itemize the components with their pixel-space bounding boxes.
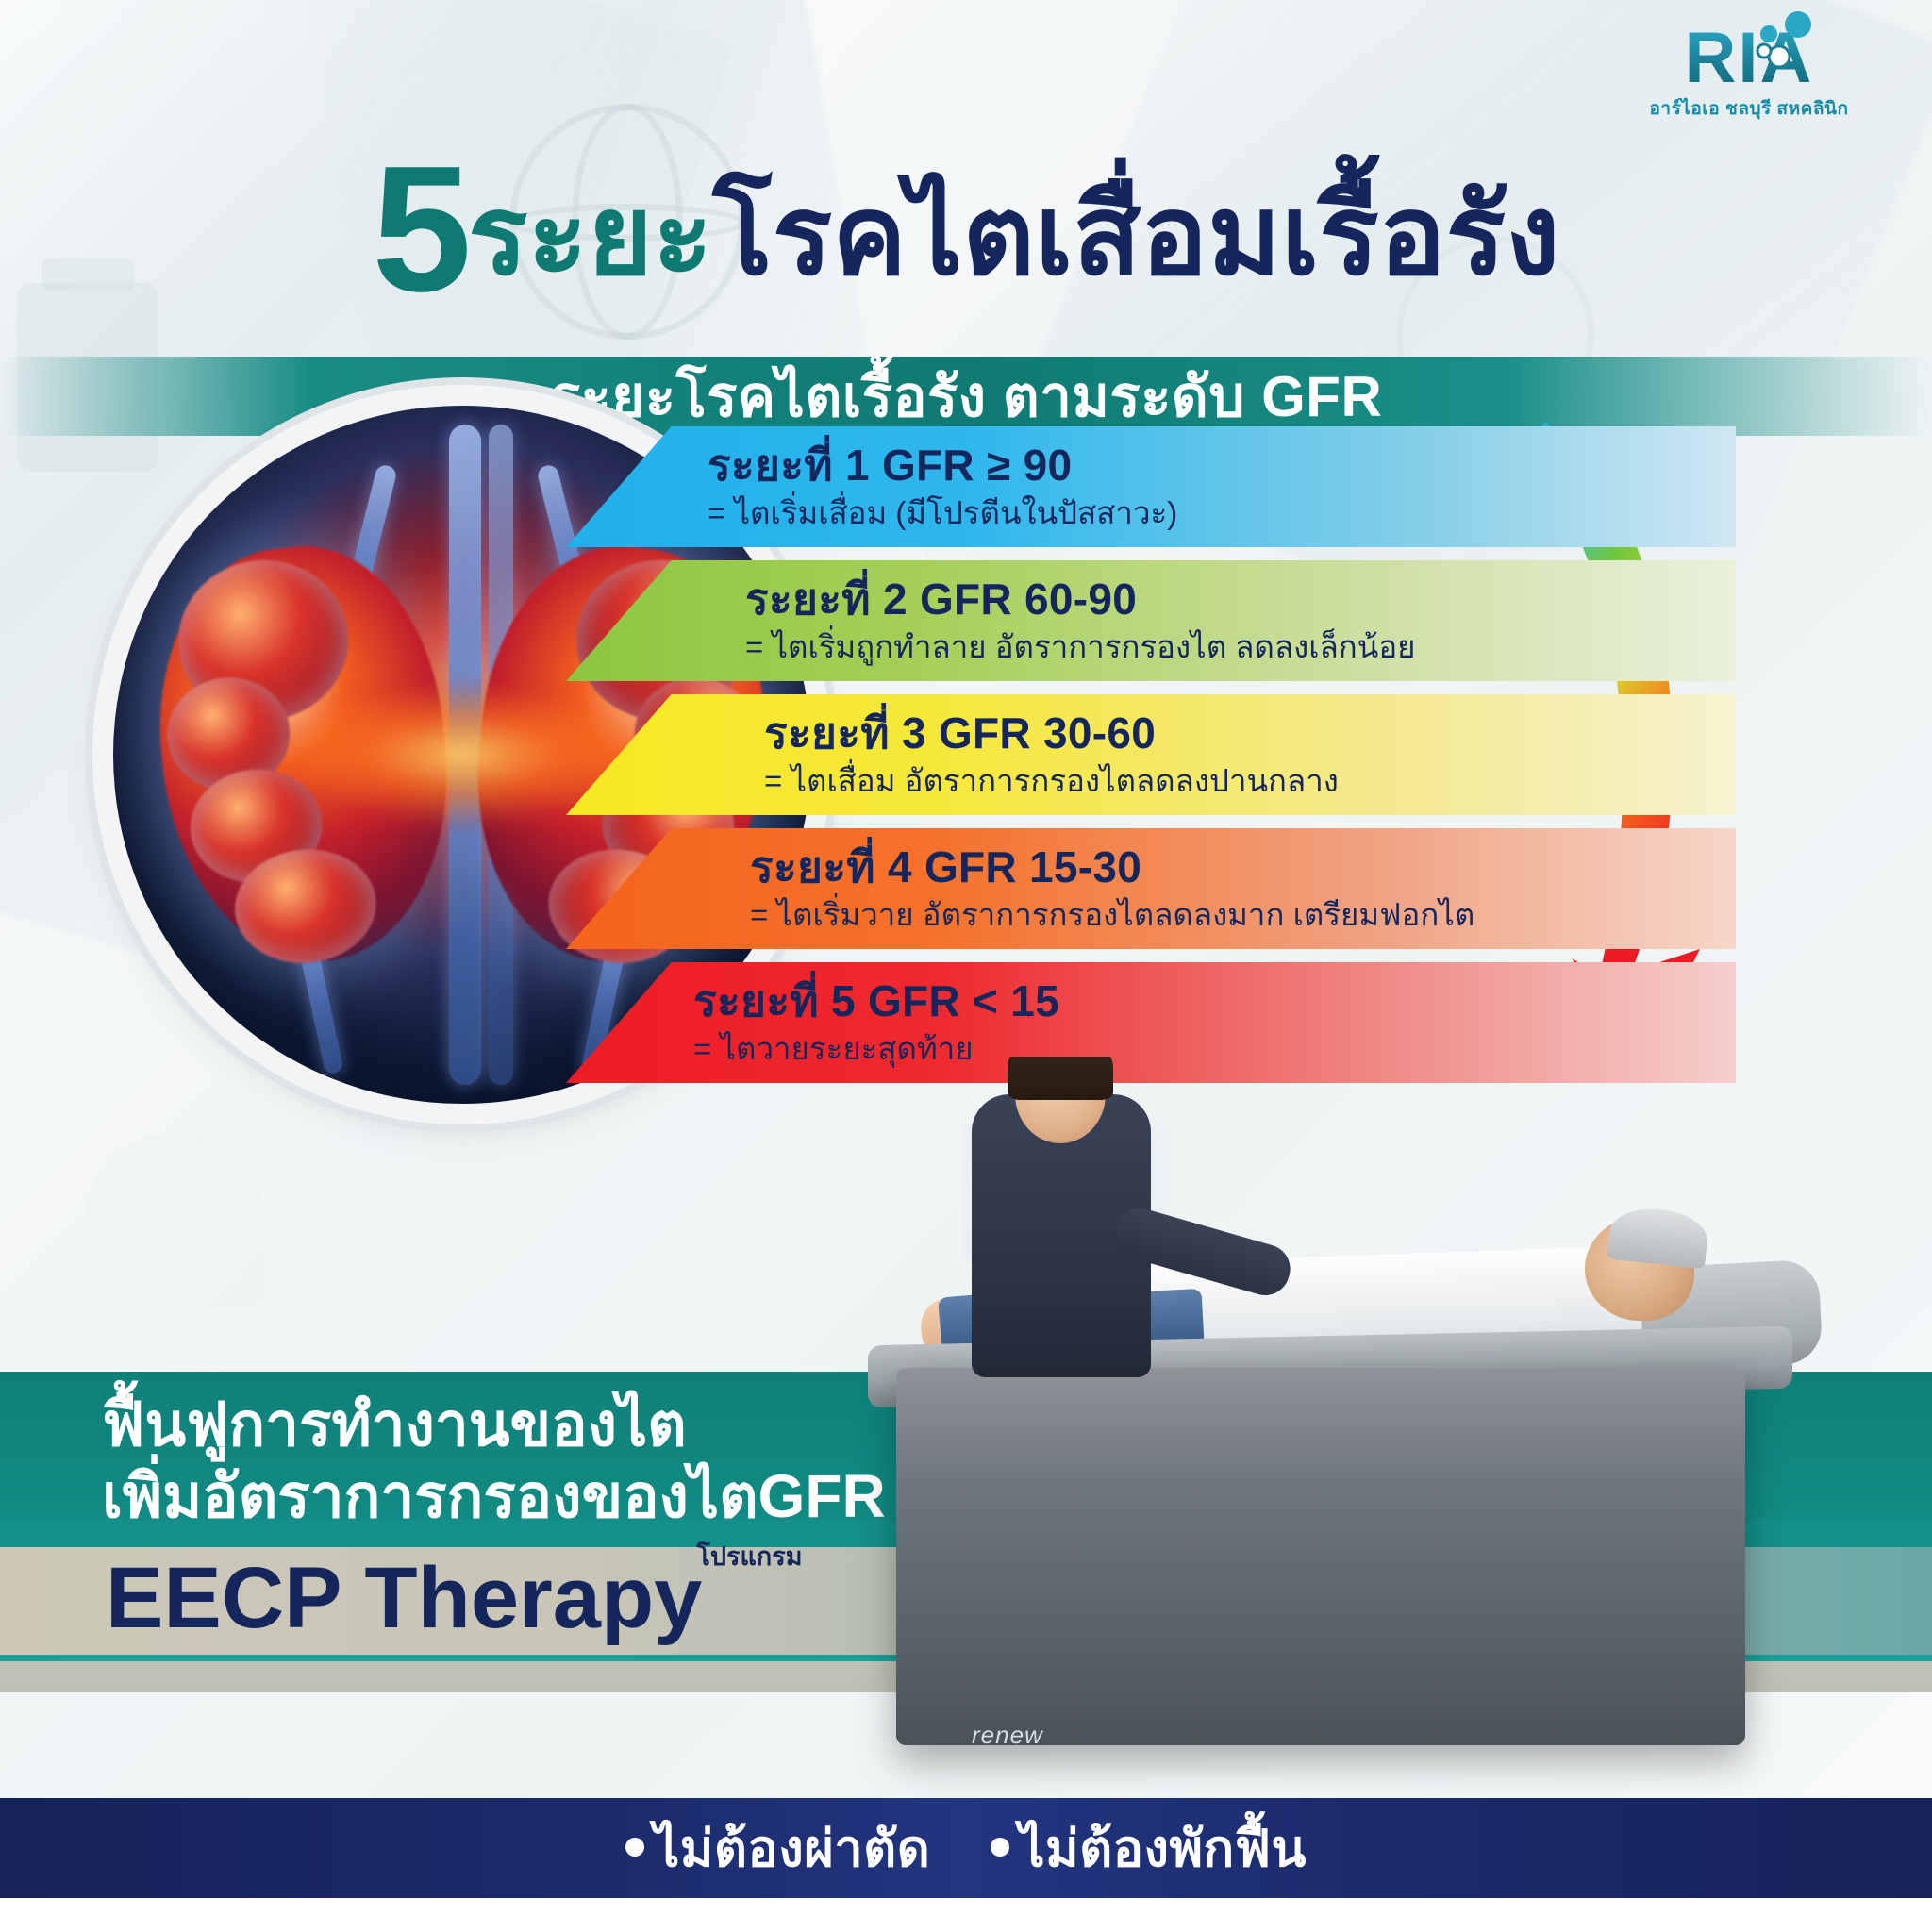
title-navy-part: โรคไตเสื่อมเรื้อรัง [712, 174, 1559, 298]
logo-subtitle: อาร์ไอเอ ชลบุรี สหคลินิก [1607, 94, 1890, 123]
shield-watermark-icon [85, 1132, 264, 1311]
therapy-name-text: EECP Therapy [106, 1550, 702, 1646]
eecp-therapy-photo: renew [830, 1057, 1932, 1811]
stage-headline: ระยะที่ 1 GFR ≥ 90 [708, 441, 1698, 491]
bottom-filler [0, 1898, 1932, 1932]
stage-list: ระยะที่ 1 GFR ≥ 90 = ไตเริ่มเสื่อม (มีโป… [566, 426, 1736, 1096]
program-superscript: โปรแกรม [696, 1542, 802, 1571]
promo-line-2: เพิ่มอัตราการกรองของไตGFR [102, 1462, 886, 1532]
bullet-dot-icon [991, 1838, 1009, 1857]
stage-headline: ระยะที่ 2 GFR 60-90 [745, 575, 1698, 625]
benefits-bar: ไม่ต้องผ่าตัด ไม่ต้องพักฟื้น [0, 1798, 1932, 1898]
flask-bubbles-icon [1726, 9, 1817, 96]
stage-description: = ไตเสื่อม อัตราการกรองไตลดลงปานกลาง [764, 762, 1698, 800]
brand-logo: RIA อาร์ไอเอ ชลบุรี สหคลินิก [1607, 25, 1890, 123]
stage-row-3[interactable]: ระยะที่ 3 GFR 30-60 = ไตเสื่อม อัตราการก… [566, 694, 1736, 815]
stage-description: = ไตเริ่มวาย อัตราการกรองไตลดลงมาก เตรีย… [750, 896, 1698, 934]
therapy-bed [896, 1368, 1745, 1745]
stage-headline: ระยะที่ 3 GFR 30-60 [764, 709, 1698, 758]
stage-headline: ระยะที่ 4 GFR 15-30 [750, 843, 1698, 892]
stage-description: = ไตเริ่มถูกทำลาย อัตราการกรองไต ลดลงเล็… [745, 628, 1698, 666]
stage-row-2[interactable]: ระยะที่ 2 GFR 60-90 = ไตเริ่มถูกทำลาย อั… [566, 560, 1736, 681]
stage-description: = ไตเริ่มเสื่อม (มีโปรตีนในปัสสาวะ) [708, 494, 1698, 532]
infographic-poster: RIA อาร์ไอเอ ชลบุรี สหคลินิก 5ระยะโรคไตเ… [0, 0, 1932, 1932]
stage-row-1[interactable]: ระยะที่ 1 GFR ≥ 90 = ไตเริ่มเสื่อม (มีโป… [566, 426, 1736, 547]
machine-brand-label: renew [972, 1721, 1043, 1750]
therapy-title: EECP Therapyโปรแกรม [106, 1555, 808, 1641]
benefit-text: ไม่ต้องพักฟื้น [1019, 1821, 1307, 1877]
benefit-item-2: ไม่ต้องพักฟื้น [991, 1807, 1307, 1889]
page-title: 5ระยะโรคไตเสื่อมเรื้อรัง [0, 140, 1932, 319]
promo-line-1: ฟื้นฟูการทำงานของไต [102, 1391, 687, 1460]
benefit-text: ไม่ต้องผ่าตัด [654, 1821, 930, 1877]
title-teal-part: ระยะ [468, 174, 712, 298]
title-number: 5 [372, 129, 468, 329]
stage-headline: ระยะที่ 5 GFR < 15 [693, 977, 1698, 1026]
bullet-dot-icon [625, 1838, 644, 1857]
benefit-item-1: ไม่ต้องผ่าตัด [625, 1807, 930, 1889]
stage-row-4[interactable]: ระยะที่ 4 GFR 15-30 = ไตเริ่มวาย อัตรากา… [566, 828, 1736, 949]
